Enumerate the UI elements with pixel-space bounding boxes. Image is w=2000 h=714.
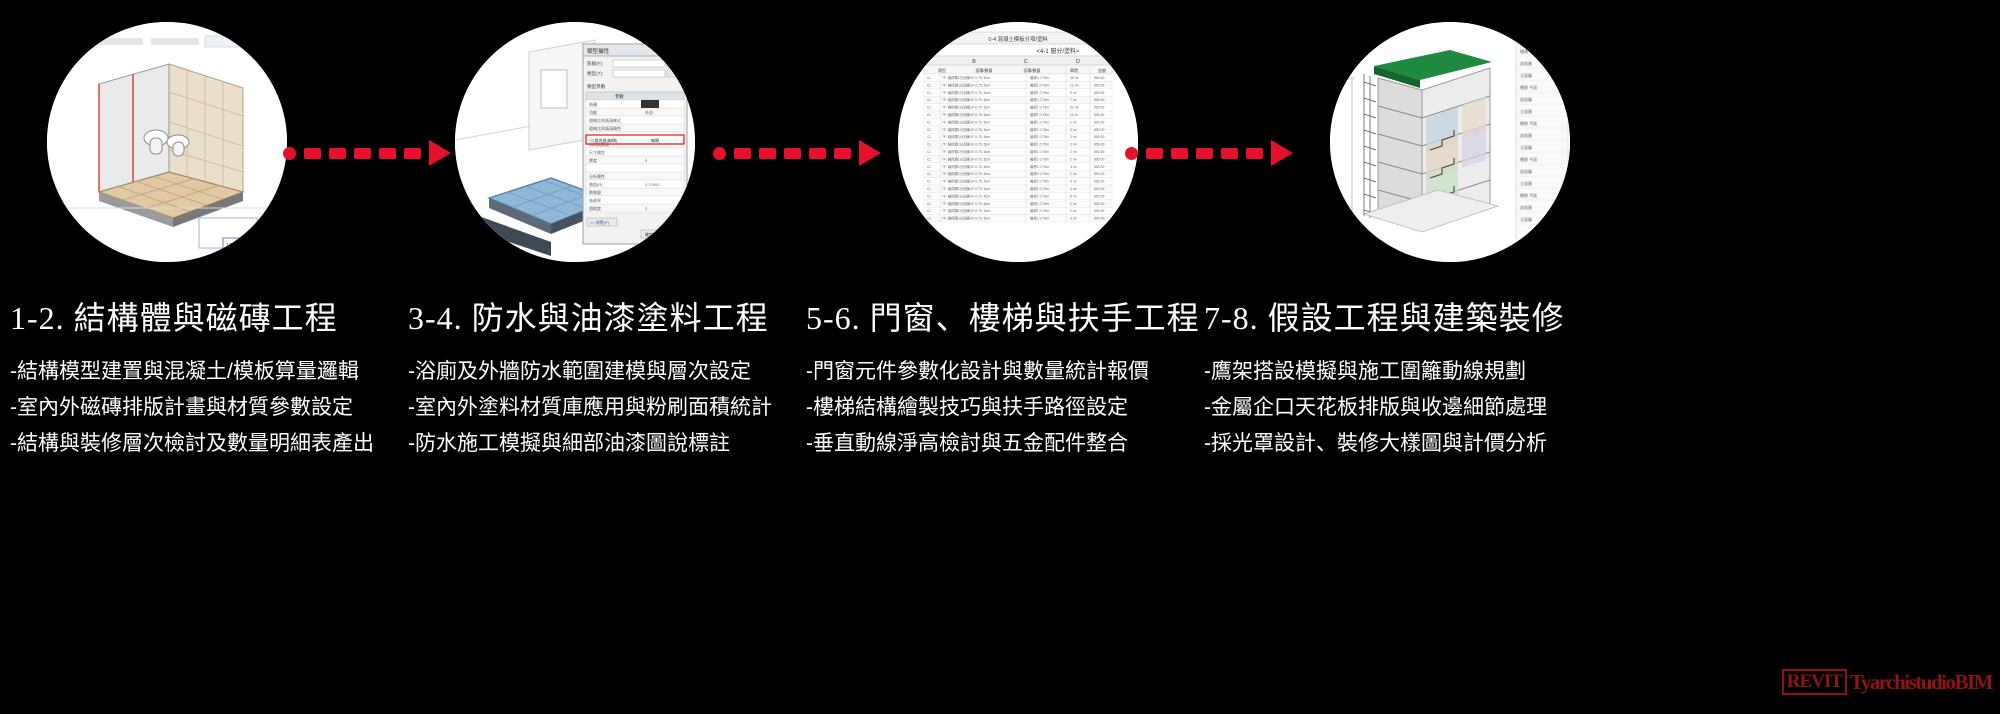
svg-text:850.00: 850.00	[1094, 143, 1104, 147]
svg-text:D: D	[1076, 59, 1080, 65]
quantity-schedule-spreadsheet-icon: 0-4 混凝土模板分項/塗料 <4-1 窗分/塗料> B C D 類型 面積/數…	[898, 22, 1138, 262]
svg-text:功能: 功能	[589, 109, 597, 115]
svg-text:7F: 裝修層1分割線1F-0.75, 5cm: 7F: 裝修層1分割線1F-0.75, 5cm	[942, 119, 990, 124]
svg-text:立面圖: 立面圖	[1520, 144, 1532, 150]
step-bullet: -採光罩設計、裝修大樣圖與計價分析	[1204, 426, 1624, 462]
svg-text:2 m²: 2 m²	[1070, 172, 1078, 176]
bathroom-interior-3d-model-icon: XM	[47, 22, 287, 262]
svg-text:尺寸標註: 尺寸標註	[589, 149, 605, 155]
svg-text:7F: 裝修層1分割線1F-0.75, 5cm: 7F: 裝修層1分割線1F-0.75, 5cm	[942, 75, 990, 80]
svg-text:52 m²: 52 m²	[1070, 106, 1080, 110]
svg-text:類型(T):: 類型(T):	[587, 70, 603, 77]
step-column-5-6: 5-6. 門窗、樓梯與扶手工程 -門窗元件參數化設計與數量統計報價 -樓梯結構繪…	[806, 296, 1206, 462]
svg-text:裝修1 0.75m: 裝修1 0.75m	[1030, 142, 1049, 147]
svg-text:裝修1 0.75m: 裝修1 0.75m	[1030, 82, 1049, 87]
svg-text:裝修1 0.75m: 裝修1 0.75m	[1030, 127, 1049, 132]
svg-text:樓層 平面: 樓層 平面	[1520, 192, 1537, 198]
arrow-dash	[354, 148, 371, 159]
svg-text:樓層 平面: 樓層 平面	[1520, 84, 1537, 90]
svg-text:7F: 裝修層1分割線1F-0.75, 5cm: 7F: 裝修層1分割線1F-0.75, 5cm	[942, 186, 990, 191]
svg-text:4 m²: 4 m²	[1070, 180, 1078, 184]
svg-text:7F: 裝修層1分割線1F-0.75, 5cm: 7F: 裝修層1分割線1F-0.75, 5cm	[942, 90, 990, 95]
step-column-3-4: 3-4. 防水與油漆塗料工程 -浴廁及外牆防水範圍建模與層次設定 -室內外塗料材…	[408, 296, 808, 462]
svg-text:參數: 參數	[615, 93, 624, 100]
svg-text:立面圖: 立面圖	[1520, 180, 1532, 186]
arrow-dash	[734, 148, 751, 159]
svg-text:CL: CL	[927, 98, 931, 102]
arrow-dash	[759, 148, 776, 159]
svg-text:850.00: 850.00	[1094, 91, 1104, 95]
svg-text:850.00: 850.00	[1094, 83, 1104, 87]
svg-text:850.00: 850.00	[1094, 165, 1104, 169]
svg-text:2 m²: 2 m²	[1070, 150, 1078, 154]
svg-text:CL: CL	[927, 165, 931, 169]
arrow-dash	[834, 148, 851, 159]
svg-text:厚度: 厚度	[589, 157, 597, 163]
svg-text:立面圖: 立面圖	[1520, 216, 1532, 222]
svg-text:CL: CL	[927, 120, 931, 124]
arrow-head-icon	[429, 140, 451, 166]
svg-text:剖面圖: 剖面圖	[1520, 60, 1532, 66]
svg-text:裝修1 0.75m: 裝修1 0.75m	[1030, 105, 1049, 110]
svg-text:850.00: 850.00	[1094, 209, 1104, 213]
svg-text:7F: 裝修層1分割線1F-0.75, 5cm: 7F: 裝修層1分割線1F-0.75, 5cm	[942, 112, 990, 117]
svg-text:金額: 金額	[1098, 67, 1106, 73]
svg-text:CL: CL	[927, 135, 931, 139]
svg-text:CL: CL	[927, 76, 931, 80]
step-column-7-8: 7-8. 假設工程與建築裝修 -鷹架搭設模擬與施工圍籬動線規劃 -金屬企口天花板…	[1204, 296, 1624, 462]
svg-text:編輯: 編輯	[651, 137, 659, 143]
svg-text:CL: CL	[927, 187, 931, 191]
svg-text:單價: 單價	[1070, 67, 1078, 73]
svg-text:850.00: 850.00	[1094, 76, 1104, 80]
svg-text:外部: 外部	[645, 109, 653, 115]
svg-text:裝修1 0.75m: 裝修1 0.75m	[1030, 186, 1049, 191]
step-image-3-4[interactable]: 類型屬性 族群(F): 類型(T): 類型參數 參數	[455, 22, 695, 262]
arrow-dash	[304, 148, 321, 159]
arrow-dash	[1146, 148, 1163, 159]
svg-text:類型: 類型	[938, 67, 946, 73]
svg-text:<< 預覽(P): << 預覽(P)	[590, 219, 610, 225]
arrow-dash	[1171, 148, 1188, 159]
svg-text:CL: CL	[927, 128, 931, 132]
step-title-7-8: 7-8. 假設工程與建築裝修	[1204, 296, 1624, 340]
svg-text:CL: CL	[927, 143, 931, 147]
svg-text:裝修1 0.75m: 裝修1 0.75m	[1030, 193, 1049, 198]
arrow-1	[283, 142, 449, 164]
svg-text:7F: 裝修層1分割線1F-0.75, 5cm: 7F: 裝修層1分割線1F-0.75, 5cm	[942, 156, 990, 161]
svg-text:CL: CL	[927, 202, 931, 206]
svg-text:裝修1 0.75m: 裝修1 0.75m	[1030, 134, 1049, 139]
arrow-dot	[713, 147, 726, 160]
svg-text:剖面圖: 剖面圖	[1520, 204, 1532, 210]
svg-text:7F: 裝修層1分割線1F-0.75, 5cm: 7F: 裝修層1分割線1F-0.75, 5cm	[942, 208, 990, 213]
svg-text:3 m²: 3 m²	[1070, 165, 1078, 169]
arrow-dash	[1221, 148, 1238, 159]
arrow-dot	[1125, 147, 1138, 160]
step-bullet: -樓梯結構繪製技巧與扶手路徑設定	[806, 390, 1206, 426]
svg-text:樓層 平面: 樓層 平面	[1520, 48, 1537, 54]
svg-text:結構: 結構	[589, 101, 597, 107]
svg-text:850.00: 850.00	[1094, 120, 1104, 124]
svg-text:CL: CL	[927, 172, 931, 176]
svg-text:850.00: 850.00	[1094, 98, 1104, 102]
svg-text:裝修1 0.75m: 裝修1 0.75m	[1030, 201, 1049, 206]
svg-text:7F: 裝修層1分割線1F-0.75, 5cm: 7F: 裝修層1分割線1F-0.75, 5cm	[942, 127, 990, 132]
step-bullet: -結構與裝修層次檢討及數量明細表產出	[10, 426, 410, 462]
arrow-3	[1125, 142, 1291, 164]
svg-text:2 m²: 2 m²	[1070, 120, 1078, 124]
svg-text:850.00: 850.00	[1094, 217, 1104, 221]
svg-text:4 m²: 4 m²	[1070, 187, 1078, 191]
svg-text:11 m²: 11 m²	[1070, 113, 1079, 117]
logo-wordmark: TyarchistudioBIM	[1850, 670, 1992, 694]
svg-text:裝修1 0.75m: 裝修1 0.75m	[1030, 149, 1049, 154]
svg-text:2 m²: 2 m²	[1070, 135, 1078, 139]
svg-text:0-4 混凝土模板分項/塗料: 0-4 混凝土模板分項/塗料	[988, 35, 1048, 43]
svg-text:CL: CL	[927, 106, 931, 110]
svg-text:吸收率: 吸收率	[589, 197, 601, 203]
svg-text:裝修1 0.75m: 裝修1 0.75m	[1030, 112, 1049, 117]
arrow-dot	[283, 147, 296, 160]
step-title-1-2: 1-2. 結構體與磁磚工程	[10, 296, 410, 340]
arrow-head-icon	[1271, 140, 1293, 166]
steps-text-columns: 1-2. 結構體與磁磚工程 -結構模型建置與混凝土/模板算量邏輯 -室內外磁磚排…	[0, 296, 2000, 496]
svg-text:裝修1 0.75m: 裝修1 0.75m	[1030, 179, 1049, 184]
svg-text:立面圖: 立面圖	[1520, 36, 1532, 42]
svg-text:7F: 裝修層1分割線1F-0.75, 5cm: 7F: 裝修層1分割線1F-0.75, 5cm	[942, 193, 990, 198]
svg-text:7F: 裝修層1分割線1F-0.75, 5cm: 7F: 裝修層1分割線1F-0.75, 5cm	[942, 201, 990, 206]
svg-text:類型參數: 類型參數	[587, 83, 606, 90]
svg-text:CL: CL	[927, 209, 931, 213]
svg-text:C: C	[1024, 59, 1028, 65]
step-bullet: -門窗元件參數化設計與數量統計報價	[806, 354, 1206, 390]
svg-text:850.00: 850.00	[1094, 106, 1104, 110]
svg-text:7 m²: 7 m²	[1070, 98, 1078, 102]
svg-text:裝修1 0.75m: 裝修1 0.75m	[1030, 171, 1049, 176]
svg-text:分析屬性: 分析屬性	[589, 173, 605, 179]
arrow-dash	[1246, 148, 1263, 159]
revit-properties-dialog-icon: 類型屬性 族群(F): 類型(T): 類型參數 參數	[455, 22, 695, 262]
logo-badge-revit: REVIT	[1782, 669, 1847, 695]
step-bullet: -室內外磁磚排版計畫與材質參數設定	[10, 390, 410, 426]
svg-text:38 m²: 38 m²	[1070, 76, 1080, 80]
svg-text:裝修1 0.75m: 裝修1 0.75m	[1030, 208, 1049, 213]
svg-text:850.00: 850.00	[1094, 180, 1104, 184]
svg-text:粗略比例填滿樣式: 粗略比例填滿樣式	[589, 117, 621, 123]
svg-text:樓層 平面: 樓層 平面	[1520, 120, 1537, 126]
arrow-dash	[404, 148, 421, 159]
svg-text:850.00: 850.00	[1094, 113, 1104, 117]
svg-text:確定: 確定	[645, 231, 653, 237]
svg-text:熱質量: 熱質量	[589, 189, 601, 195]
svg-text:<4-1 窗分/塗料>: <4-1 窗分/塗料>	[1036, 47, 1080, 55]
svg-text:CL: CL	[927, 150, 931, 154]
svg-text:*二層與層(編輯): *二層與層(編輯)	[589, 137, 618, 143]
svg-text:CL: CL	[927, 180, 931, 184]
svg-text:850.00: 850.00	[1094, 172, 1104, 176]
svg-text:CL: CL	[927, 157, 931, 161]
arrow-2	[713, 142, 879, 164]
svg-text:7F: 裝修層1分割線1F-0.75, 5cm: 7F: 裝修層1分割線1F-0.75, 5cm	[942, 97, 990, 102]
step-title-3-4: 3-4. 防水與油漆塗料工程	[408, 296, 808, 340]
svg-text:B: B	[972, 59, 976, 65]
arrow-head-icon	[859, 140, 881, 166]
scaffolding-building-section-icon: 立面圖樓層 平面 剖面圖立面圖 樓層 平面剖面圖 立面圖樓層 平面 剖面圖立面圖…	[1330, 22, 1570, 262]
svg-text:樓層 平面: 樓層 平面	[1520, 156, 1537, 162]
svg-text:7F: 裝修層1分割線1F-0.75, 5cm: 7F: 裝修層1分割線1F-0.75, 5cm	[942, 179, 990, 184]
arrow-dash	[379, 148, 396, 159]
svg-text:850.00: 850.00	[1094, 202, 1104, 206]
svg-text:850.00: 850.00	[1094, 187, 1104, 191]
svg-text:裝修1 0.75m: 裝修1 0.75m	[1030, 75, 1049, 80]
svg-text:850.00: 850.00	[1094, 128, 1104, 132]
svg-text:剖面圖: 剖面圖	[1520, 132, 1532, 138]
step-bullet: -金屬企口天花板排版與收邊細節處理	[1204, 390, 1624, 426]
svg-text:2 m²: 2 m²	[1070, 157, 1078, 161]
svg-text:面積/數量: 面積/數量	[975, 67, 992, 73]
step-bullet: -結構模型建置與混凝土/模板算量邏輯	[10, 354, 410, 390]
arrow-dash	[329, 148, 346, 159]
svg-text:裝修1 0.75m: 裝修1 0.75m	[1030, 216, 1049, 221]
step-bullet: -防水施工模擬與細部油漆圖說標註	[408, 426, 808, 462]
step-bullet: -鷹架搭設模擬與施工圍籬動線規劃	[1204, 354, 1624, 390]
svg-text:2 m²: 2 m²	[1070, 128, 1078, 132]
svg-text:裝修1 0.75m: 裝修1 0.75m	[1030, 90, 1049, 95]
svg-text:裝修1 0.75m: 裝修1 0.75m	[1030, 156, 1049, 161]
svg-text:0.70000: 0.70000	[645, 182, 660, 187]
svg-text:3 m²: 3 m²	[1070, 217, 1078, 221]
svg-text:CL: CL	[927, 91, 931, 95]
step-image-1-2[interactable]: XM	[47, 22, 287, 262]
svg-text:CL: CL	[927, 194, 931, 198]
svg-text:7F: 裝修層1分割線1F-0.75, 5cm: 7F: 裝修層1分割線1F-0.75, 5cm	[942, 149, 990, 154]
step-image-5-6[interactable]: 0-4 混凝土模板分項/塗料 <4-1 窗分/塗料> B C D 類型 面積/數…	[898, 22, 1138, 262]
svg-text:裝修1 0.75m: 裝修1 0.75m	[1030, 119, 1049, 124]
svg-text:7F: 裝修層1分割線1F-0.75, 5cm: 7F: 裝修層1分割線1F-0.75, 5cm	[942, 216, 990, 221]
svg-text:7F: 裝修層1分割線1F-0.75, 5cm: 7F: 裝修層1分割線1F-0.75, 5cm	[942, 171, 990, 176]
svg-text:7F: 裝修層1分割線1F-0.75, 5cm: 7F: 裝修層1分割線1F-0.75, 5cm	[942, 142, 990, 147]
step-bullet: -垂直動線淨高檢討與五金配件整合	[806, 426, 1206, 462]
svg-text:2 m²: 2 m²	[1070, 143, 1078, 147]
step-bullet: -浴廁及外牆防水範圍建模與層次設定	[408, 354, 808, 390]
svg-text:7F: 裝修層1分割線1F-0.75, 5cm: 7F: 裝修層1分割線1F-0.75, 5cm	[942, 164, 990, 169]
svg-text:XM: XM	[226, 242, 238, 251]
step-image-7-8[interactable]: 立面圖樓層 平面 剖面圖立面圖 樓層 平面剖面圖 立面圖樓層 平面 剖面圖立面圖…	[1330, 22, 1570, 262]
svg-text:裝修1 0.75m: 裝修1 0.75m	[1030, 164, 1049, 169]
svg-text:熱阻(R): 熱阻(R)	[589, 181, 603, 187]
svg-text:850.00: 850.00	[1094, 150, 1104, 154]
svg-text:7F: 裝修層1分割線1F-0.75, 5cm: 7F: 裝修層1分割線1F-0.75, 5cm	[942, 105, 990, 110]
svg-text:12 m²: 12 m²	[1070, 83, 1080, 87]
svg-text:CL: CL	[927, 113, 931, 117]
brand-logo[interactable]: REVIT TyarchistudioBIM	[1782, 668, 1992, 696]
workflow-diagram: XM	[0, 22, 2000, 290]
svg-text:剖面圖: 剖面圖	[1520, 168, 1532, 174]
step-title-5-6: 5-6. 門窗、樓梯與扶手工程	[806, 296, 1206, 340]
svg-text:2 m²: 2 m²	[1070, 209, 1078, 213]
svg-text:粗糙度: 粗糙度	[589, 205, 601, 211]
svg-text:立面圖: 立面圖	[1520, 72, 1532, 78]
step-column-1-2: 1-2. 結構體與磁磚工程 -結構模型建置與混凝土/模板算量邏輯 -室內外磁磚排…	[10, 296, 410, 462]
svg-text:CL: CL	[927, 83, 931, 87]
svg-text:850.00: 850.00	[1094, 157, 1104, 161]
svg-text:850.00: 850.00	[1094, 194, 1104, 198]
svg-text:剖面圖: 剖面圖	[1520, 96, 1532, 102]
svg-text:CL: CL	[927, 217, 931, 221]
arrow-dash	[809, 148, 826, 159]
svg-text:5 m²: 5 m²	[1070, 194, 1078, 198]
svg-text:立面圖: 立面圖	[1520, 108, 1532, 114]
step-bullet: -室內外塗料材質庫應用與粉刷面積統計	[408, 390, 808, 426]
arrow-dash	[1196, 148, 1213, 159]
svg-text:裝修1 0.75m: 裝修1 0.75m	[1030, 97, 1049, 102]
svg-text:7F: 裝修層1分割線1F-0.75, 5cm: 7F: 裝修層1分割線1F-0.75, 5cm	[942, 134, 990, 139]
svg-text:類型屬性: 類型屬性	[587, 47, 610, 55]
svg-text:族群(F):: 族群(F):	[587, 60, 603, 67]
svg-text:粗略比例填滿顏色: 粗略比例填滿顏色	[589, 125, 621, 131]
arrow-dash	[784, 148, 801, 159]
svg-text:9 m²: 9 m²	[1070, 91, 1078, 95]
svg-text:850.00: 850.00	[1094, 135, 1104, 139]
svg-text:2 m²: 2 m²	[1070, 202, 1078, 206]
svg-text:7F: 裝修層1分割線1F-0.75, 5cm: 7F: 裝修層1分割線1F-0.75, 5cm	[942, 82, 990, 87]
